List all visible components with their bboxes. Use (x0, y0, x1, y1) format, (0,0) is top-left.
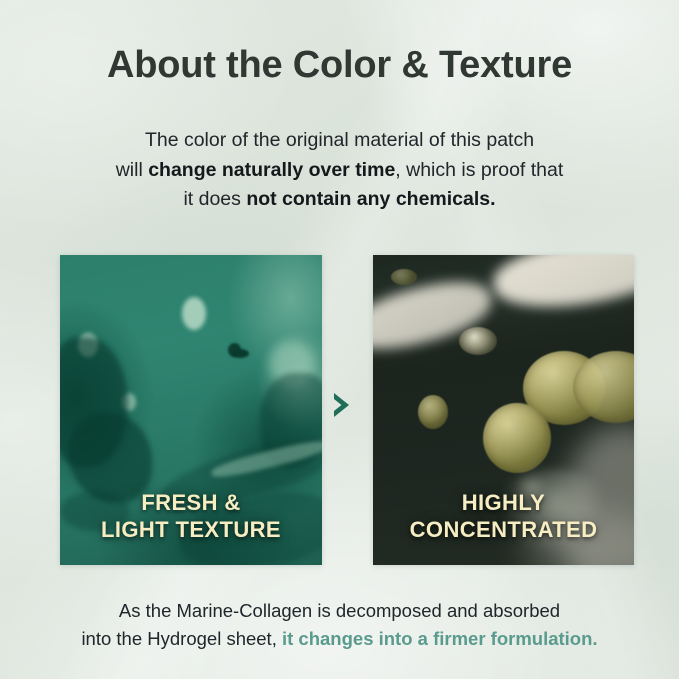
intro-line-2-bold: change naturally over time (148, 159, 395, 181)
footnote-line-2-prefix: into the Hydrogel sheet, (81, 628, 282, 649)
panel-caption-after-line-1: HIGHLY (373, 490, 634, 516)
transition-arrow-icon (330, 390, 354, 420)
intro-line-3-prefix: it does (183, 188, 246, 210)
footnote-paragraph: As the Marine-Collagen is decomposed and… (28, 597, 651, 653)
panel-caption-before-line-1: FRESH & (60, 490, 322, 516)
intro-line-2-prefix: will (116, 159, 149, 181)
comparison-panel-before: FRESH & LIGHT TEXTURE (60, 255, 322, 565)
intro-line-1: The color of the original material of th… (145, 129, 534, 151)
panel-caption-after-line-2: CONCENTRATED (373, 517, 634, 543)
footnote-highlight: it changes into a firmer formulation. (282, 628, 598, 649)
intro-line-2-suffix: , which is proof that (395, 159, 563, 181)
panel-caption-after: HIGHLY CONCENTRATED (373, 490, 634, 543)
footnote-line-1: As the Marine-Collagen is decomposed and… (119, 600, 560, 621)
panel-caption-before: FRESH & LIGHT TEXTURE (60, 490, 322, 543)
comparison-panel-after: HIGHLY CONCENTRATED (373, 255, 634, 565)
intro-paragraph: The color of the original material of th… (46, 126, 633, 215)
intro-line-3-bold: not contain any chemicals. (246, 188, 495, 210)
page-title: About the Color & Texture (0, 44, 679, 88)
marketing-graphic: About the Color & Texture The color of t… (0, 0, 679, 679)
panel-caption-before-line-2: LIGHT TEXTURE (60, 517, 322, 543)
